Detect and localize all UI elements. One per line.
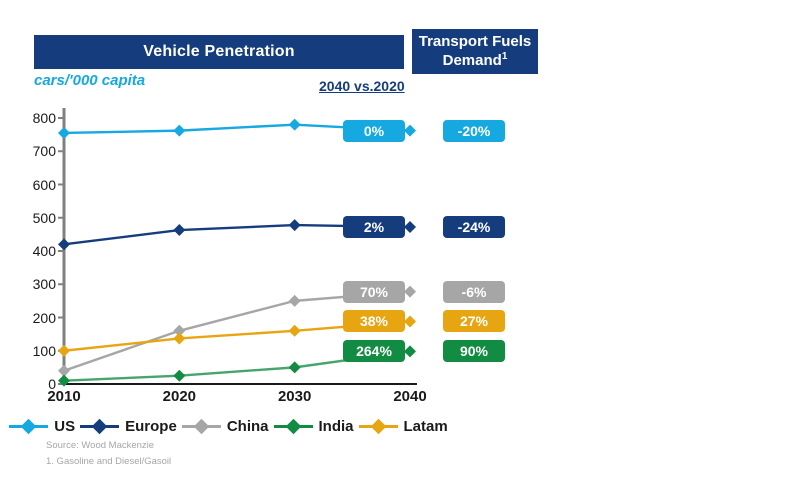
x-axis-tick-label-2010: 2010 [34, 388, 94, 405]
data-point-india-2040 [404, 345, 416, 357]
legend-item-latam[interactable]: Latam [359, 418, 451, 435]
legend-diamond-icon [370, 418, 386, 434]
data-point-us-2020 [173, 125, 185, 137]
legend-diamond-icon [21, 418, 37, 434]
penetration-change-badge-india: 264% [343, 340, 405, 362]
data-point-china-2030 [289, 295, 301, 307]
y-axis-tick-label: 700 [14, 143, 56, 159]
fuels-demand-change-badge-europe: -24% [443, 216, 505, 238]
x-axis-tick-label-2020: 2020 [149, 388, 209, 405]
y-axis-tick-label: 300 [14, 276, 56, 292]
legend-label: India [315, 418, 357, 435]
data-point-latam-2020 [173, 332, 185, 344]
y-axis-tick-label: 600 [14, 177, 56, 193]
data-point-europe-2030 [289, 219, 301, 231]
data-point-us-2010 [58, 127, 70, 139]
legend-label: Europe [121, 418, 180, 435]
legend-item-europe[interactable]: Europe [80, 418, 180, 435]
legend-label: China [223, 418, 272, 435]
data-point-europe-2040 [404, 221, 416, 233]
data-point-europe-2020 [173, 224, 185, 236]
fuels-demand-change-badge-us: -20% [443, 120, 505, 142]
line-chart-plot [0, 0, 800, 480]
fuels-demand-change-badge-china: -6% [443, 281, 505, 303]
penetration-change-badge-europe: 2% [343, 216, 405, 238]
data-point-latam-2030 [289, 325, 301, 337]
y-axis-tick-label: 100 [14, 343, 56, 359]
data-point-us-2040 [404, 125, 416, 137]
legend-line-icon [106, 425, 119, 428]
penetration-change-badge-us: 0% [343, 120, 405, 142]
y-axis-tick-label: 800 [14, 110, 56, 126]
chart-legend: USEuropeChinaIndiaLatam [34, 414, 426, 438]
fuels-demand-change-badge-india: 90% [443, 340, 505, 362]
y-axis-tick-label: 200 [14, 310, 56, 326]
data-point-europe-2010 [58, 238, 70, 250]
legend-label: US [50, 418, 78, 435]
data-point-latam-2010 [58, 345, 70, 357]
fuels-demand-change-badge-latam: 27% [443, 310, 505, 332]
x-axis-tick-label-2030: 2030 [265, 388, 325, 405]
chart-page: Vehicle Penetration Transport Fuels Dema… [0, 0, 800, 480]
data-point-india-2020 [173, 370, 185, 382]
y-axis-tick-label: 400 [14, 243, 56, 259]
legend-label: Latam [400, 418, 451, 435]
definition-footnote: 1. Gasoline and Diesel/Gasoil [46, 456, 171, 467]
x-axis-tick-label-2040: 2040 [380, 388, 440, 405]
source-footnote: Source: Wood Mackenzie [46, 440, 154, 451]
data-point-us-2030 [289, 119, 301, 131]
legend-diamond-icon [92, 418, 108, 434]
penetration-change-badge-latam: 38% [343, 310, 405, 332]
penetration-change-badge-china: 70% [343, 281, 405, 303]
legend-diamond-icon [194, 418, 210, 434]
legend-item-us[interactable]: US [9, 418, 78, 435]
data-point-latam-2040 [404, 315, 416, 327]
legend-item-india[interactable]: India [274, 418, 357, 435]
y-axis-tick-label: 500 [14, 210, 56, 226]
legend-line-icon [35, 425, 48, 428]
data-point-india-2030 [289, 361, 301, 373]
legend-diamond-icon [285, 418, 301, 434]
legend-item-china[interactable]: China [182, 418, 272, 435]
data-point-china-2040 [404, 286, 416, 298]
